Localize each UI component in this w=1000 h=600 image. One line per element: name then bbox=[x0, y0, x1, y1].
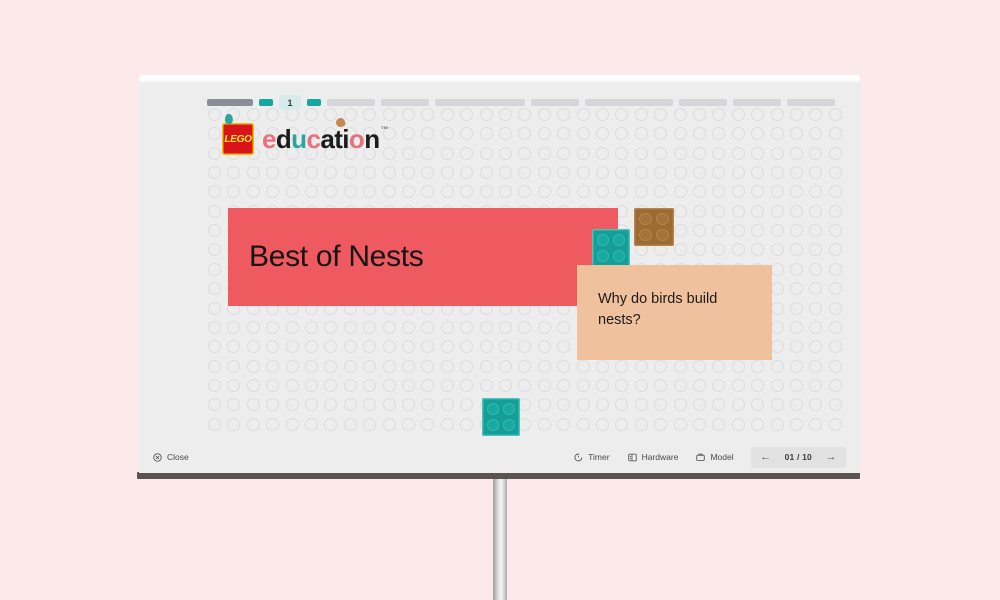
baseplate-stud bbox=[790, 166, 803, 179]
baseplate-stud bbox=[421, 360, 434, 373]
baseplate-stud bbox=[480, 127, 493, 140]
baseplate-stud bbox=[441, 418, 454, 431]
baseplate-stud bbox=[402, 127, 415, 140]
baseplate-stud bbox=[596, 379, 609, 392]
baseplate-stud bbox=[227, 166, 240, 179]
baseplate-stud bbox=[266, 166, 279, 179]
baseplate-stud bbox=[480, 321, 493, 334]
lesson-progress-bar[interactable]: 1 bbox=[207, 95, 793, 110]
baseplate-stud bbox=[693, 360, 706, 373]
baseplate-stud bbox=[809, 224, 822, 237]
baseplate-stud bbox=[402, 360, 415, 373]
baseplate-stud bbox=[790, 147, 803, 160]
baseplate-stud bbox=[518, 127, 531, 140]
baseplate-stud bbox=[460, 166, 473, 179]
baseplate-stud bbox=[324, 398, 337, 411]
baseplate-stud bbox=[518, 321, 531, 334]
baseplate-stud bbox=[227, 340, 240, 353]
baseplate-stud bbox=[538, 340, 551, 353]
baseplate-stud bbox=[693, 166, 706, 179]
wordmark-letter-e: e bbox=[262, 126, 276, 152]
baseplate-stud bbox=[809, 205, 822, 218]
baseplate-stud bbox=[790, 360, 803, 373]
baseplate-stud bbox=[751, 360, 764, 373]
baseplate-stud bbox=[615, 127, 628, 140]
baseplate-stud bbox=[829, 282, 842, 295]
baseplate-stud bbox=[693, 243, 706, 256]
baseplate-stud bbox=[383, 185, 396, 198]
baseplate-stud bbox=[247, 418, 260, 431]
timer-label: Timer bbox=[588, 452, 609, 462]
lego-brand-mark-text: LEGO bbox=[224, 134, 251, 145]
baseplate-stud bbox=[790, 127, 803, 140]
baseplate-stud bbox=[383, 360, 396, 373]
baseplate-stud bbox=[635, 398, 648, 411]
baseplate-stud bbox=[790, 205, 803, 218]
baseplate-stud bbox=[674, 379, 687, 392]
baseplate-stud bbox=[344, 340, 357, 353]
baseplate-stud bbox=[286, 340, 299, 353]
baseplate-stud bbox=[577, 379, 590, 392]
baseplate-stud bbox=[829, 108, 842, 121]
baseplate-stud bbox=[305, 360, 318, 373]
baseplate-stud bbox=[615, 360, 628, 373]
slide-title-block: Best of Nests bbox=[228, 208, 618, 306]
baseplate-stud bbox=[247, 185, 260, 198]
baseplate-stud bbox=[286, 321, 299, 334]
baseplate-stud bbox=[363, 340, 376, 353]
baseplate-stud bbox=[674, 185, 687, 198]
baseplate-stud bbox=[829, 418, 842, 431]
baseplate-stud bbox=[674, 224, 687, 237]
baseplate-stud bbox=[615, 147, 628, 160]
baseplate-stud bbox=[460, 147, 473, 160]
baseplate-stud bbox=[266, 185, 279, 198]
baseplate-stud bbox=[674, 360, 687, 373]
baseplate-stud bbox=[829, 127, 842, 140]
baseplate-stud bbox=[441, 379, 454, 392]
baseplate-stud bbox=[577, 127, 590, 140]
baseplate-stud bbox=[227, 418, 240, 431]
baseplate-stud bbox=[208, 127, 221, 140]
baseplate-stud bbox=[829, 360, 842, 373]
baseplate-stud bbox=[208, 302, 221, 315]
hardware-label: Hardware bbox=[642, 452, 679, 462]
baseplate-stud bbox=[751, 243, 764, 256]
next-page-button[interactable]: → bbox=[820, 452, 842, 463]
baseplate-stud bbox=[596, 185, 609, 198]
baseplate-stud bbox=[460, 418, 473, 431]
baseplate-stud bbox=[460, 360, 473, 373]
baseplate-stud bbox=[208, 398, 221, 411]
hardware-button[interactable]: Hardware bbox=[619, 452, 688, 462]
baseplate-stud bbox=[518, 340, 531, 353]
baseplate-stud bbox=[712, 398, 725, 411]
baseplate-stud bbox=[208, 282, 221, 295]
baseplate-stud bbox=[771, 340, 784, 353]
baseplate-stud bbox=[635, 185, 648, 198]
baseplate-stud bbox=[286, 398, 299, 411]
baseplate-stud bbox=[363, 379, 376, 392]
baseplate-stud bbox=[480, 166, 493, 179]
progress-segment-8[interactable] bbox=[585, 99, 673, 106]
baseplate-stud bbox=[829, 379, 842, 392]
baseplate-stud bbox=[383, 398, 396, 411]
baseplate-stud bbox=[421, 185, 434, 198]
baseplate-stud bbox=[480, 147, 493, 160]
baseplate-stud bbox=[441, 321, 454, 334]
baseplate-stud bbox=[557, 166, 570, 179]
baseplate-stud bbox=[635, 379, 648, 392]
baseplate-stud bbox=[693, 224, 706, 237]
baseplate-stud bbox=[732, 243, 745, 256]
baseplate-stud bbox=[809, 321, 822, 334]
baseplate-stud bbox=[518, 398, 531, 411]
baseplate-stud bbox=[344, 360, 357, 373]
baseplate-stud bbox=[286, 360, 299, 373]
baseplate-stud bbox=[402, 418, 415, 431]
baseplate-stud bbox=[771, 321, 784, 334]
education-wordmark: e d u c a t i o n ™ bbox=[262, 126, 388, 152]
lego-brick-brown-title[interactable] bbox=[634, 208, 674, 246]
baseplate-stud bbox=[421, 418, 434, 431]
brick-studs bbox=[482, 398, 520, 436]
baseplate-stud bbox=[615, 398, 628, 411]
baseplate-stud bbox=[363, 398, 376, 411]
baseplate-stud bbox=[577, 147, 590, 160]
baseplate-stud bbox=[577, 360, 590, 373]
lesson-board: 1 LEGO e d u c a t i o n ™ Best of Nests bbox=[139, 83, 860, 473]
progress-segment-11[interactable] bbox=[787, 99, 835, 106]
toolbar-right-group: Timer Hardware bbox=[565, 447, 846, 468]
baseplate-stud bbox=[615, 418, 628, 431]
baseplate-stud bbox=[732, 418, 745, 431]
baseplate-stud bbox=[538, 321, 551, 334]
baseplate-stud bbox=[596, 418, 609, 431]
baseplate-stud bbox=[790, 379, 803, 392]
baseplate-stud bbox=[266, 379, 279, 392]
baseplate-stud bbox=[208, 205, 221, 218]
question-text: Why do birds build nests? bbox=[598, 289, 750, 330]
easel-stage: 1 LEGO e d u c a t i o n ™ Best of Nests bbox=[0, 0, 1000, 600]
baseplate-stud bbox=[693, 147, 706, 160]
baseplate-stud bbox=[227, 360, 240, 373]
baseplate-stud bbox=[324, 185, 337, 198]
baseplate-stud bbox=[499, 166, 512, 179]
baseplate-stud bbox=[480, 185, 493, 198]
baseplate-stud bbox=[363, 321, 376, 334]
progress-segment-5[interactable] bbox=[381, 99, 429, 106]
baseplate-stud bbox=[557, 418, 570, 431]
baseplate-stud bbox=[557, 360, 570, 373]
baseplate-stud bbox=[732, 147, 745, 160]
baseplate-stud bbox=[499, 127, 512, 140]
baseplate-stud bbox=[402, 166, 415, 179]
baseplate-stud bbox=[286, 185, 299, 198]
baseplate-stud bbox=[577, 398, 590, 411]
baseplate-stud bbox=[829, 321, 842, 334]
progress-segment-2[interactable] bbox=[259, 99, 273, 106]
baseplate-stud bbox=[305, 185, 318, 198]
baseplate-stud bbox=[441, 127, 454, 140]
baseplate-stud bbox=[227, 321, 240, 334]
model-icon bbox=[696, 453, 705, 462]
baseplate-stud bbox=[208, 418, 221, 431]
baseplate-stud bbox=[809, 302, 822, 315]
baseplate-stud bbox=[518, 418, 531, 431]
timer-button[interactable]: Timer bbox=[565, 452, 618, 462]
baseplate-stud bbox=[790, 340, 803, 353]
progress-segment-10[interactable] bbox=[733, 99, 781, 106]
baseplate-stud bbox=[208, 185, 221, 198]
brick-studs bbox=[634, 208, 674, 246]
baseplate-stud bbox=[829, 205, 842, 218]
baseplate-stud bbox=[557, 340, 570, 353]
baseplate-stud bbox=[208, 263, 221, 276]
wordmark-letter-c: c bbox=[306, 126, 320, 152]
baseplate-stud bbox=[693, 398, 706, 411]
baseplate-stud bbox=[693, 127, 706, 140]
baseplate-stud bbox=[460, 185, 473, 198]
baseplate-stud bbox=[809, 243, 822, 256]
baseplate-stud bbox=[751, 147, 764, 160]
baseplate-stud bbox=[305, 418, 318, 431]
baseplate-stud bbox=[402, 321, 415, 334]
baseplate-stud bbox=[790, 418, 803, 431]
baseplate-stud bbox=[538, 147, 551, 160]
previous-page-button[interactable]: ← bbox=[755, 452, 777, 463]
baseplate-stud bbox=[227, 185, 240, 198]
baseplate-stud bbox=[324, 166, 337, 179]
baseplate-stud bbox=[441, 166, 454, 179]
baseplate-stud bbox=[771, 398, 784, 411]
baseplate-stud bbox=[208, 147, 221, 160]
baseplate-stud bbox=[460, 340, 473, 353]
baseplate-stud bbox=[654, 398, 667, 411]
wordmark-letter-n: n bbox=[364, 126, 379, 152]
baseplate-stud bbox=[286, 418, 299, 431]
baseplate-stud bbox=[208, 166, 221, 179]
bottom-toolbar: Close Timer bbox=[139, 441, 860, 473]
baseplate-stud bbox=[402, 340, 415, 353]
baseplate-stud bbox=[809, 263, 822, 276]
baseplate-stud bbox=[577, 185, 590, 198]
baseplate-stud bbox=[615, 166, 628, 179]
baseplate-stud bbox=[790, 224, 803, 237]
baseplate-stud bbox=[499, 340, 512, 353]
lego-brick-teal-title[interactable] bbox=[592, 229, 630, 267]
baseplate-stud bbox=[829, 340, 842, 353]
baseplate-stud bbox=[460, 321, 473, 334]
close-button[interactable]: Close bbox=[153, 452, 189, 462]
baseplate-stud bbox=[518, 166, 531, 179]
baseplate-stud bbox=[402, 379, 415, 392]
baseplate-stud bbox=[693, 418, 706, 431]
wordmark-letter-t: t bbox=[334, 126, 342, 152]
baseplate-stud bbox=[208, 360, 221, 373]
close-icon bbox=[153, 453, 162, 462]
baseplate-stud bbox=[499, 360, 512, 373]
baseplate-stud bbox=[615, 185, 628, 198]
baseplate-stud bbox=[654, 418, 667, 431]
current-step-chip[interactable]: 1 bbox=[279, 95, 301, 110]
baseplate-stud bbox=[732, 205, 745, 218]
baseplate-stud bbox=[305, 166, 318, 179]
baseplate-stud bbox=[480, 360, 493, 373]
baseplate-stud bbox=[518, 147, 531, 160]
baseplate-stud bbox=[809, 418, 822, 431]
baseplate-stud bbox=[402, 185, 415, 198]
baseplate-stud bbox=[460, 379, 473, 392]
baseplate-stud bbox=[596, 127, 609, 140]
baseplate-stud bbox=[266, 321, 279, 334]
baseplate-stud bbox=[712, 379, 725, 392]
model-button[interactable]: Model bbox=[687, 452, 742, 462]
baseplate-stud bbox=[538, 166, 551, 179]
baseplate-stud bbox=[790, 321, 803, 334]
progress-segment-3[interactable] bbox=[307, 99, 321, 106]
baseplate-stud bbox=[751, 398, 764, 411]
baseplate-stud bbox=[324, 418, 337, 431]
baseplate-stud bbox=[771, 185, 784, 198]
baseplate-stud bbox=[732, 166, 745, 179]
baseplate-stud bbox=[712, 205, 725, 218]
progress-segment-9[interactable] bbox=[679, 99, 727, 106]
progress-segment-4[interactable] bbox=[327, 99, 375, 106]
baseplate-stud bbox=[674, 166, 687, 179]
baseplate-stud bbox=[732, 379, 745, 392]
baseplate-stud bbox=[538, 418, 551, 431]
baseplate-stud bbox=[635, 360, 648, 373]
baseplate-stud bbox=[518, 379, 531, 392]
baseplate-stud bbox=[363, 418, 376, 431]
baseplate-stud bbox=[227, 379, 240, 392]
baseplate-stud bbox=[732, 360, 745, 373]
baseplate-stud bbox=[751, 166, 764, 179]
baseplate-stud bbox=[286, 166, 299, 179]
baseplate-stud bbox=[771, 302, 784, 315]
baseplate-stud bbox=[674, 243, 687, 256]
baseplate-stud bbox=[674, 205, 687, 218]
baseplate-stud bbox=[693, 205, 706, 218]
baseplate-stud bbox=[383, 418, 396, 431]
baseplate-stud bbox=[518, 185, 531, 198]
baseplate-stud bbox=[674, 418, 687, 431]
baseplate-stud bbox=[674, 398, 687, 411]
brick-studs bbox=[592, 229, 630, 267]
baseplate-stud bbox=[247, 398, 260, 411]
baseplate-stud bbox=[712, 166, 725, 179]
baseplate-stud bbox=[829, 147, 842, 160]
baseplate-stud bbox=[266, 360, 279, 373]
baseplate-stud bbox=[305, 321, 318, 334]
timer-icon bbox=[574, 453, 583, 462]
baseplate-stud bbox=[208, 224, 221, 237]
baseplate-stud bbox=[421, 127, 434, 140]
baseplate-stud bbox=[344, 418, 357, 431]
baseplate-stud bbox=[809, 108, 822, 121]
page-navigation: ← 01 / 10 → bbox=[751, 447, 846, 468]
baseplate-stud bbox=[247, 166, 260, 179]
baseplate-stud bbox=[247, 379, 260, 392]
baseplate-stud bbox=[674, 147, 687, 160]
baseplate-stud bbox=[557, 185, 570, 198]
baseplate-stud bbox=[557, 321, 570, 334]
baseplate-stud bbox=[635, 127, 648, 140]
baseplate-stud bbox=[809, 379, 822, 392]
baseplate-stud bbox=[208, 379, 221, 392]
baseplate-stud bbox=[751, 127, 764, 140]
baseplate-stud bbox=[383, 379, 396, 392]
baseplate-stud bbox=[305, 379, 318, 392]
baseplate-stud bbox=[790, 243, 803, 256]
baseplate-stud bbox=[732, 185, 745, 198]
wordmark-letter-u: u bbox=[291, 126, 306, 152]
progress-segment-7[interactable] bbox=[531, 99, 579, 106]
baseplate-stud bbox=[712, 185, 725, 198]
baseplate-stud bbox=[809, 360, 822, 373]
baseplate-stud bbox=[829, 263, 842, 276]
easel-pole bbox=[493, 478, 507, 600]
baseplate-stud bbox=[751, 418, 764, 431]
baseplate-stud bbox=[402, 398, 415, 411]
wordmark-letter-a: a bbox=[320, 126, 334, 152]
baseplate-stud bbox=[829, 166, 842, 179]
baseplate-stud bbox=[557, 127, 570, 140]
baseplate-stud bbox=[324, 360, 337, 373]
baseplate-stud bbox=[324, 379, 337, 392]
baseplate-stud bbox=[771, 127, 784, 140]
baseplate-stud bbox=[286, 379, 299, 392]
baseplate-stud bbox=[809, 185, 822, 198]
baseplate-stud bbox=[654, 166, 667, 179]
baseplate-stud bbox=[441, 340, 454, 353]
baseplate-stud bbox=[499, 185, 512, 198]
trademark-symbol: ™ bbox=[381, 126, 388, 134]
baseplate-stud bbox=[829, 224, 842, 237]
baseplate-stud bbox=[635, 418, 648, 431]
baseplate-stud bbox=[383, 340, 396, 353]
baseplate-stud bbox=[654, 360, 667, 373]
baseplate-stud bbox=[712, 418, 725, 431]
baseplate-stud bbox=[402, 147, 415, 160]
lego-brick-teal-bottom[interactable] bbox=[482, 398, 520, 436]
progress-segment-1[interactable] bbox=[207, 99, 253, 106]
baseplate-stud bbox=[538, 360, 551, 373]
wordmark-letter-d: d bbox=[276, 126, 291, 152]
baseplate-stud bbox=[324, 321, 337, 334]
baseplate-stud bbox=[596, 147, 609, 160]
baseplate-stud bbox=[771, 166, 784, 179]
baseplate-stud bbox=[460, 398, 473, 411]
baseplate-stud bbox=[247, 360, 260, 373]
baseplate-stud bbox=[383, 321, 396, 334]
baseplate-stud bbox=[751, 379, 764, 392]
baseplate-stud bbox=[654, 185, 667, 198]
progress-segment-6[interactable] bbox=[435, 99, 525, 106]
baseplate-stud bbox=[577, 166, 590, 179]
baseplate-stud bbox=[751, 224, 764, 237]
hardware-icon bbox=[628, 453, 637, 462]
baseplate-stud bbox=[421, 166, 434, 179]
baseplate-stud bbox=[790, 282, 803, 295]
wordmark-letter-o: o bbox=[349, 126, 364, 152]
baseplate-stud bbox=[771, 147, 784, 160]
close-label: Close bbox=[167, 452, 189, 462]
baseplate-stud bbox=[732, 398, 745, 411]
baseplate-stud bbox=[441, 360, 454, 373]
baseplate-stud bbox=[227, 398, 240, 411]
